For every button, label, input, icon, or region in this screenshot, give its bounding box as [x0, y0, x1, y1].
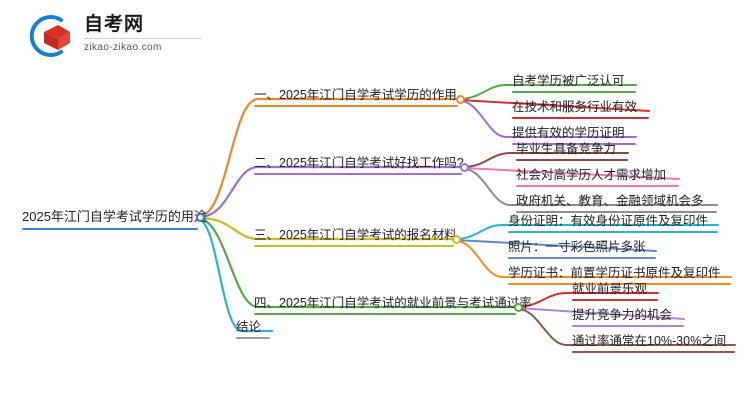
- branch-3-leaf-2-label[interactable]: 照片：一寸彩色照片多张: [508, 240, 646, 254]
- branch-2-leaf-2-underline: [516, 185, 679, 187]
- branch-3-dot[interactable]: [452, 235, 461, 244]
- root-node-underline: [22, 228, 198, 230]
- branch-3-leaf-1-underline: [508, 231, 718, 233]
- site-logo[interactable]: 自考网 zikao-zikao.com: [28, 10, 208, 62]
- branch-3-leaf-1-label[interactable]: 身份证明：有效身份证原件及复印件: [508, 214, 708, 228]
- branch-2-underline: [254, 173, 462, 175]
- branch-2-leaf-3-label[interactable]: 政府机关、教育、金融领域机会多: [516, 194, 704, 208]
- branch-3-label[interactable]: 三、2025年江门自学考试的报名材料: [254, 228, 457, 242]
- branch-3-leaf-2-underline: [508, 257, 656, 259]
- branch-3-underline: [254, 245, 454, 247]
- branch-1-leaf-1-label[interactable]: 自考学历被广泛认可: [512, 74, 625, 88]
- branch-4-leaf-3-underline: [572, 351, 735, 353]
- branch-1-leaf-1-underline: [512, 91, 636, 93]
- branch-1-leaf-2-underline: [512, 117, 649, 119]
- branch-5-label[interactable]: 结论: [236, 320, 261, 334]
- branch-3-leaf-3-label[interactable]: 学历证书：前置学历证书原件及复印件: [508, 266, 721, 280]
- graduation-book-icon: [28, 12, 76, 60]
- branch-1-underline: [254, 105, 458, 107]
- logo-subtitle: zikao-zikao.com: [84, 42, 214, 53]
- branch-1-leaf-2-label[interactable]: 在技术和服务行业有效: [512, 100, 637, 114]
- root-node-dot[interactable]: [196, 213, 205, 222]
- branch-4-leaf-1-underline: [572, 299, 658, 301]
- branch-4-label[interactable]: 四、2025年江门自学考试的就业前景与考试通过率: [254, 296, 532, 310]
- root-node-label[interactable]: 2025年江门自学考试学历的用途: [22, 210, 207, 225]
- branch-4-leaf-3-label[interactable]: 通过率通常在10%-30%之间: [572, 334, 726, 348]
- branch-2-leaf-2-label[interactable]: 社会对高学历人才需求增加: [516, 168, 666, 182]
- mindmap-canvas: 自考网 zikao-zikao.com 2025年江门自学考试学历的用途: [0, 0, 750, 410]
- branch-2-leaf-3-underline: [516, 211, 717, 213]
- branch-2-dot[interactable]: [460, 163, 469, 172]
- branch-5-underline: [236, 337, 270, 339]
- branch-4-dot[interactable]: [514, 303, 523, 312]
- branch-2-label[interactable]: 二、2025年江门自学考试好找工作吗?: [254, 156, 464, 170]
- logo-title: 自考网: [84, 14, 202, 39]
- branch-2-leaf-1-label[interactable]: 毕业生具备竞争力: [516, 142, 616, 156]
- branch-4-leaf-2-label[interactable]: 提升竞争力的机会: [572, 308, 672, 322]
- branch-2-leaf-1-underline: [516, 159, 628, 161]
- branch-1-leaf-3-label[interactable]: 提供有效的学历证明: [512, 126, 625, 140]
- branch-4-underline: [254, 313, 516, 315]
- branch-1-dot[interactable]: [456, 95, 465, 104]
- branch-4-leaf-2-underline: [572, 325, 684, 327]
- branch-1-label[interactable]: 一、2025年江门自学考试学历的作用: [254, 88, 457, 102]
- branch-4-leaf-1-label[interactable]: 就业前景乐观: [572, 282, 647, 296]
